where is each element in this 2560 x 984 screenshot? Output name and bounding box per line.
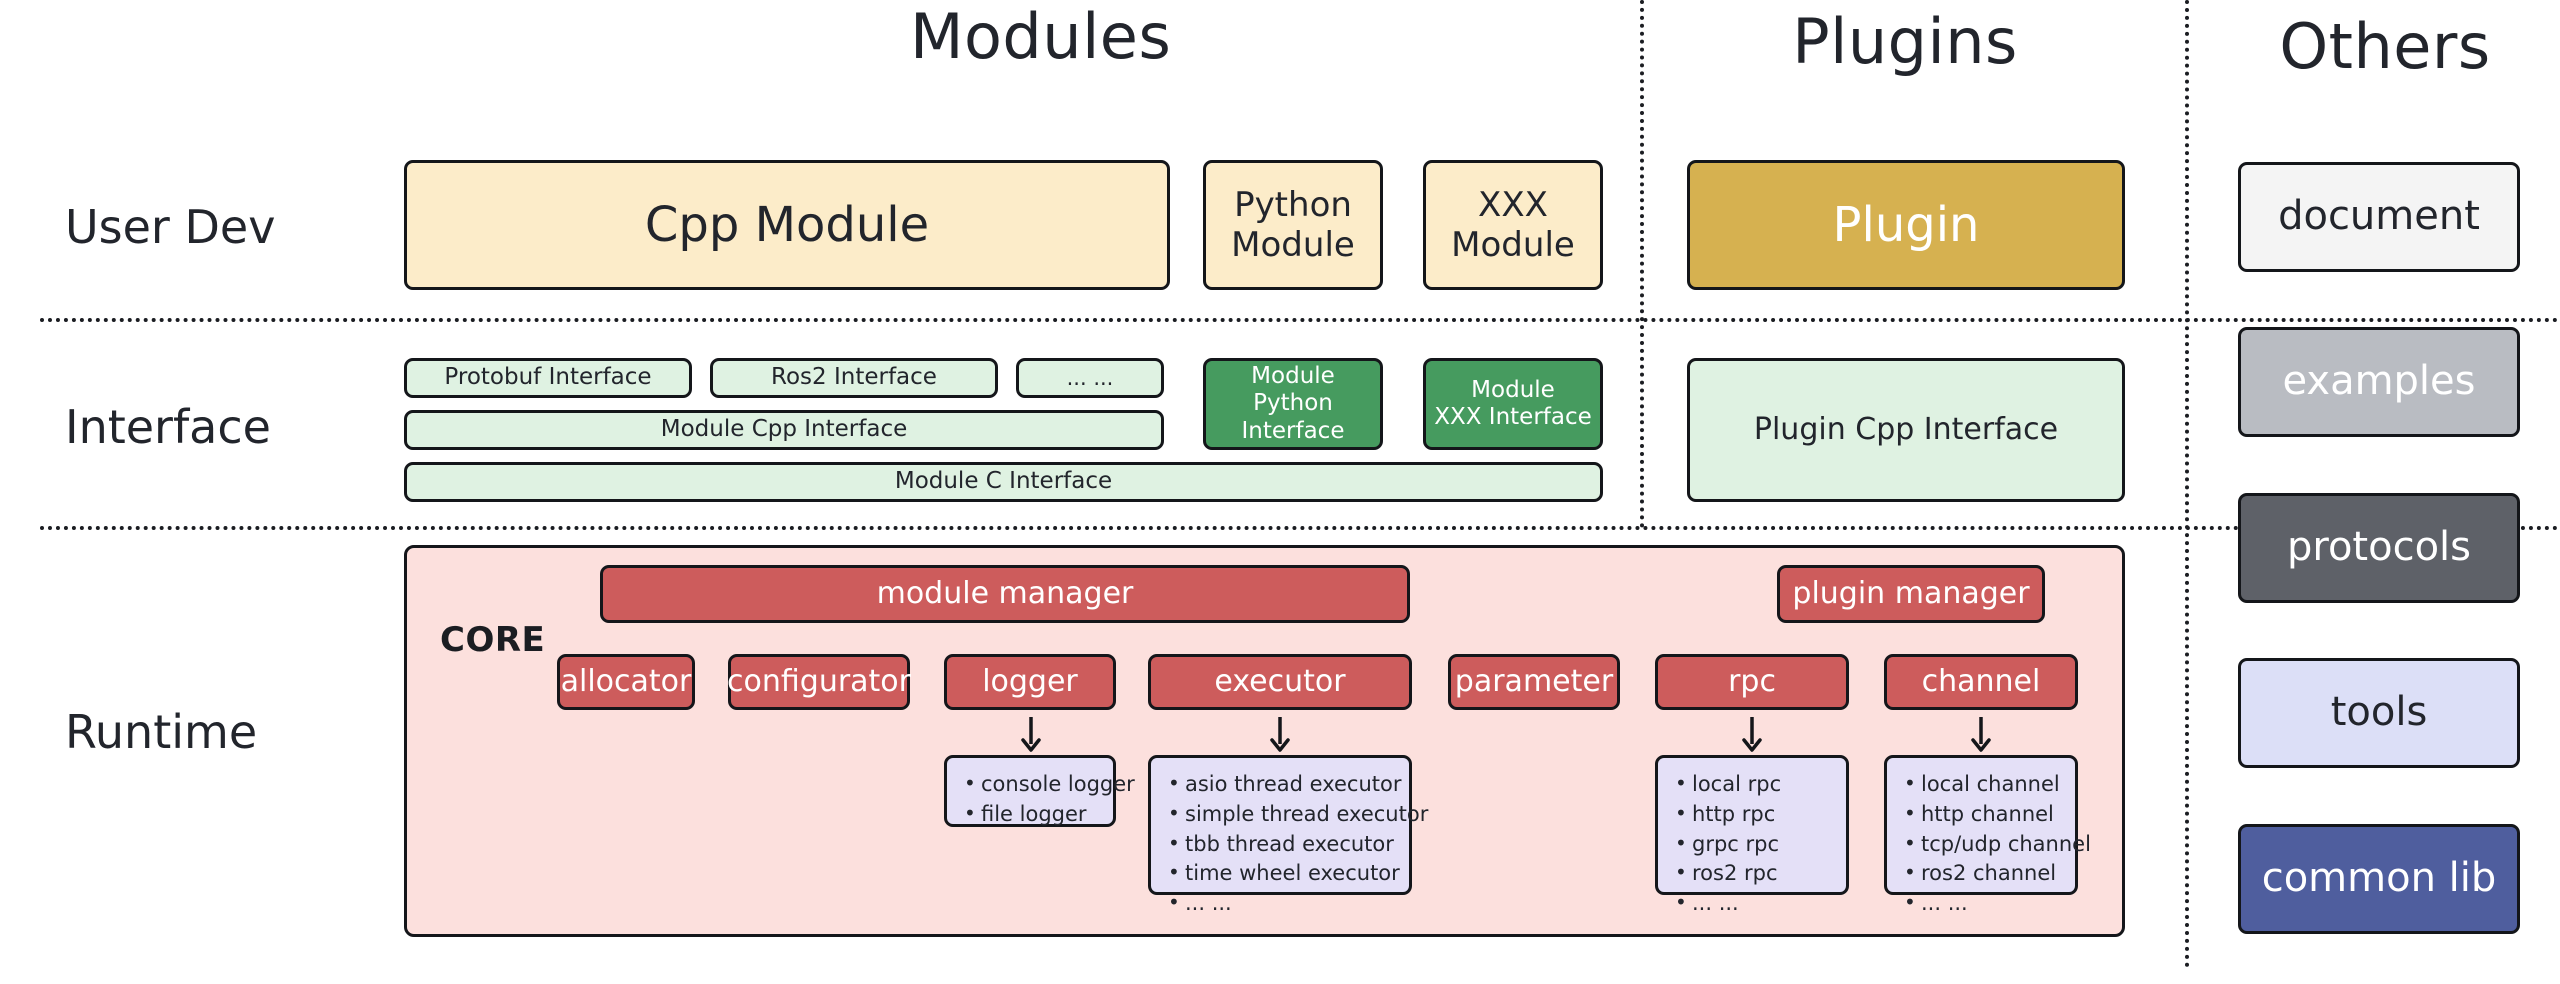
cpp-module-label: Cpp Module <box>645 197 929 254</box>
module-cpp-interface-label: Module Cpp Interface <box>661 416 908 443</box>
module-cpp-interface-box[interactable]: Module Cpp Interface <box>404 410 1164 450</box>
arrow-logger-down-icon <box>1018 716 1044 752</box>
others-item-protocols-label: protocols <box>2287 524 2471 571</box>
list-item: local rpc <box>1692 770 1836 800</box>
list-item: console logger <box>981 770 1103 800</box>
list-item: http rpc <box>1692 800 1836 830</box>
list-item: local channel <box>1921 770 2065 800</box>
component-executor-box[interactable]: executor <box>1148 654 1412 710</box>
module-python-interface-box[interactable]: Module Python Interface <box>1203 358 1383 450</box>
component-logger-label: logger <box>982 664 1078 699</box>
others-item-common-lib[interactable]: common lib <box>2238 824 2520 934</box>
plugin-cpp-interface-box[interactable]: Plugin Cpp Interface <box>1687 358 2125 502</box>
component-rpc-box[interactable]: rpc <box>1655 654 1849 710</box>
others-item-examples[interactable]: examples <box>2238 327 2520 437</box>
module-c-interface-box[interactable]: Module C Interface <box>404 462 1603 502</box>
component-logger-box[interactable]: logger <box>944 654 1116 710</box>
row-label-user-dev: User Dev <box>65 200 275 254</box>
channel-details-box[interactable]: local channel http channel tcp/udp chann… <box>1884 755 2078 895</box>
python-module-label-line2: Module <box>1231 225 1355 265</box>
protobuf-interface-box[interactable]: Protobuf Interface <box>404 358 692 398</box>
row-label-runtime: Runtime <box>65 705 257 759</box>
logger-details-box[interactable]: console logger file logger <box>944 755 1116 827</box>
component-channel-label: channel <box>1922 664 2041 699</box>
others-item-common-lib-label: common lib <box>2262 855 2497 902</box>
core-label: CORE <box>440 620 545 660</box>
component-allocator-label: allocator <box>561 664 692 699</box>
executor-details-box[interactable]: asio thread executor simple thread execu… <box>1148 755 1412 895</box>
rpc-details-list: local rpc http rpc grpc rpc ros2 rpc ...… <box>1672 770 1836 919</box>
others-item-document-label: document <box>2278 193 2480 240</box>
divider-modules-plugins <box>1640 0 1644 528</box>
others-item-tools[interactable]: tools <box>2238 658 2520 768</box>
list-item: ... ... <box>1921 889 2065 919</box>
list-item: ros2 rpc <box>1692 859 1836 889</box>
column-title-others: Others <box>2255 10 2515 83</box>
module-python-interface-line2: Python Interface <box>1206 390 1380 444</box>
list-item: simple thread executor <box>1185 800 1399 830</box>
list-item: http channel <box>1921 800 2065 830</box>
plugin-manager-label: plugin manager <box>1792 576 2029 611</box>
list-item: ... ... <box>1185 889 1399 919</box>
arrow-executor-down-icon <box>1267 716 1293 752</box>
list-item: grpc rpc <box>1692 830 1836 860</box>
list-item: tbb thread executor <box>1185 830 1399 860</box>
component-executor-label: executor <box>1214 664 1345 699</box>
others-item-protocols[interactable]: protocols <box>2238 493 2520 603</box>
module-manager-label: module manager <box>877 576 1134 611</box>
list-item: ... ... <box>1692 889 1836 919</box>
component-rpc-label: rpc <box>1728 664 1776 699</box>
divider-userdev-interface <box>40 318 2560 322</box>
list-item: tcp/udp channel <box>1921 830 2065 860</box>
column-title-plugins: Plugins <box>1785 5 2025 78</box>
logger-details-list: console logger file logger <box>961 770 1103 830</box>
arrow-channel-down-icon <box>1968 716 1994 752</box>
component-configurator-label: configurator <box>727 664 911 699</box>
xxx-module-box[interactable]: XXX Module <box>1423 160 1603 290</box>
module-manager-box[interactable]: module manager <box>600 565 1410 623</box>
channel-details-list: local channel http channel tcp/udp chann… <box>1901 770 2065 919</box>
others-item-examples-label: examples <box>2282 358 2475 405</box>
plugin-cpp-interface-label: Plugin Cpp Interface <box>1754 412 2058 447</box>
module-xxx-interface-line2: XXX Interface <box>1434 404 1592 431</box>
others-item-tools-label: tools <box>2331 689 2428 736</box>
module-xxx-interface-line1: Module <box>1471 377 1555 404</box>
xxx-module-label-line1: XXX <box>1478 185 1548 225</box>
ros2-interface-label: Ros2 Interface <box>771 364 937 391</box>
arrow-rpc-down-icon <box>1739 716 1765 752</box>
component-parameter-label: parameter <box>1455 664 1613 699</box>
xxx-module-label-line2: Module <box>1451 225 1575 265</box>
cpp-module-box[interactable]: Cpp Module <box>404 160 1170 290</box>
column-title-modules: Modules <box>910 0 1150 73</box>
plugin-box[interactable]: Plugin <box>1687 160 2125 290</box>
component-configurator-box[interactable]: configurator <box>728 654 910 710</box>
others-item-document[interactable]: document <box>2238 162 2520 272</box>
ros2-interface-box[interactable]: Ros2 Interface <box>710 358 998 398</box>
module-xxx-interface-box[interactable]: Module XXX Interface <box>1423 358 1603 450</box>
protobuf-interface-label: Protobuf Interface <box>444 364 651 391</box>
more-interface-label: ... ... <box>1067 366 1114 391</box>
module-python-interface-line1: Module <box>1251 363 1335 390</box>
divider-plugins-others <box>2185 0 2189 968</box>
component-channel-box[interactable]: channel <box>1884 654 2078 710</box>
list-item: file logger <box>981 800 1103 830</box>
module-c-interface-label: Module C Interface <box>895 468 1112 495</box>
list-item: asio thread executor <box>1185 770 1399 800</box>
python-module-box[interactable]: Python Module <box>1203 160 1383 290</box>
plugin-label: Plugin <box>1833 197 1980 254</box>
divider-interface-runtime <box>40 526 2560 530</box>
plugin-manager-box[interactable]: plugin manager <box>1777 565 2045 623</box>
row-label-interface: Interface <box>65 400 271 454</box>
component-allocator-box[interactable]: allocator <box>557 654 695 710</box>
executor-details-list: asio thread executor simple thread execu… <box>1165 770 1399 919</box>
list-item: ros2 channel <box>1921 859 2065 889</box>
python-module-label-line1: Python <box>1234 185 1352 225</box>
list-item: time wheel executor <box>1185 859 1399 889</box>
component-parameter-box[interactable]: parameter <box>1448 654 1620 710</box>
rpc-details-box[interactable]: local rpc http rpc grpc rpc ros2 rpc ...… <box>1655 755 1849 895</box>
more-interface-box[interactable]: ... ... <box>1016 358 1164 398</box>
